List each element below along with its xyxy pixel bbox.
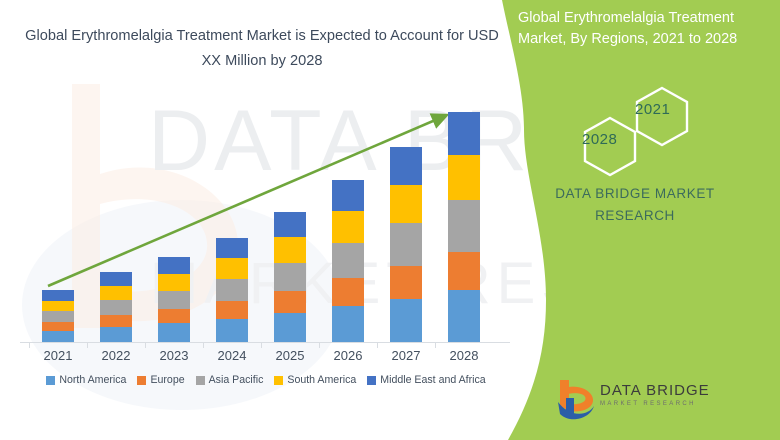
bar-segment-south-america bbox=[100, 286, 132, 300]
bar-segment-europe bbox=[216, 301, 248, 319]
bar-2026 bbox=[332, 180, 364, 342]
bar-segment-europe bbox=[158, 309, 190, 323]
x-axis-label-2026: 2026 bbox=[318, 348, 378, 363]
legend-item-south-america[interactable]: South America bbox=[274, 374, 356, 386]
bar-2024 bbox=[216, 238, 248, 342]
bar-segment-middle-east-and-africa bbox=[216, 238, 248, 258]
bar-segment-asia-pacific bbox=[158, 291, 190, 309]
x-axis-label-2021: 2021 bbox=[28, 348, 88, 363]
bar-segment-north-america bbox=[390, 299, 422, 342]
bar-segment-europe bbox=[390, 266, 422, 299]
bar-segment-south-america bbox=[448, 155, 480, 200]
bar-segment-middle-east-and-africa bbox=[448, 112, 480, 155]
panel-brand-line1: DATA BRIDGE MARKET bbox=[510, 183, 760, 205]
legend-item-europe[interactable]: Europe bbox=[137, 374, 184, 386]
bar-segment-asia-pacific bbox=[42, 311, 74, 322]
legend-item-north-america[interactable]: North America bbox=[46, 374, 126, 386]
legend-label: South America bbox=[287, 374, 356, 386]
bar-segment-europe bbox=[448, 252, 480, 290]
bar-segment-middle-east-and-africa bbox=[390, 147, 422, 185]
bar-segment-europe bbox=[332, 278, 364, 306]
dbmr-mark-icon bbox=[556, 378, 596, 422]
dbmr-logo: DATA BRIDGE MARKET RESEARCH bbox=[556, 378, 736, 424]
bar-2023 bbox=[158, 257, 190, 342]
dbmr-logo-name: DATA BRIDGE bbox=[600, 382, 710, 399]
bar-segment-north-america bbox=[332, 306, 364, 342]
hexagon-group: 2028 2021 bbox=[480, 0, 780, 180]
dbmr-logo-text: DATA BRIDGE MARKET RESEARCH bbox=[600, 382, 710, 407]
bar-2027 bbox=[390, 147, 422, 342]
hexagon-label-2028: 2028 bbox=[582, 131, 617, 148]
bar-segment-asia-pacific bbox=[100, 300, 132, 315]
bar-segment-asia-pacific bbox=[448, 200, 480, 252]
legend-swatch-icon bbox=[367, 376, 376, 385]
bar-segment-south-america bbox=[158, 274, 190, 291]
bar-segment-south-america bbox=[390, 185, 422, 223]
bar-segment-asia-pacific bbox=[390, 223, 422, 266]
legend-label: Asia Pacific bbox=[209, 374, 264, 386]
bar-segment-asia-pacific bbox=[274, 263, 306, 291]
panel-brand: DATA BRIDGE MARKET RESEARCH bbox=[510, 183, 760, 227]
bar-segment-south-america bbox=[216, 258, 248, 279]
bar-segment-north-america bbox=[158, 323, 190, 342]
x-axis-label-2023: 2023 bbox=[144, 348, 204, 363]
panel-brand-line2: RESEARCH bbox=[510, 205, 760, 227]
bar-2028 bbox=[448, 112, 480, 342]
hexagon-label-2021: 2021 bbox=[635, 101, 670, 118]
bar-segment-middle-east-and-africa bbox=[274, 212, 306, 237]
bar-segment-north-america bbox=[216, 319, 248, 342]
right-green-panel: Global Erythromelalgia Treatment Market,… bbox=[480, 0, 780, 440]
legend-swatch-icon bbox=[196, 376, 205, 385]
bar-2025 bbox=[274, 212, 306, 342]
dbmr-logo-tagline: MARKET RESEARCH bbox=[600, 401, 710, 407]
bar-segment-asia-pacific bbox=[332, 243, 364, 278]
bar-segment-north-america bbox=[448, 290, 480, 342]
x-axis-label-2022: 2022 bbox=[86, 348, 146, 363]
bar-segment-middle-east-and-africa bbox=[158, 257, 190, 274]
bar-segment-south-america bbox=[332, 211, 364, 243]
hexagon-outlines-icon bbox=[480, 0, 780, 180]
bar-segment-south-america bbox=[42, 301, 74, 311]
legend-swatch-icon bbox=[274, 376, 283, 385]
x-axis-label-2024: 2024 bbox=[202, 348, 262, 363]
bar-segment-north-america bbox=[42, 331, 74, 342]
x-axis-label-2025: 2025 bbox=[260, 348, 320, 363]
bar-segment-middle-east-and-africa bbox=[42, 290, 74, 301]
x-axis-label-2028: 2028 bbox=[434, 348, 494, 363]
legend-swatch-icon bbox=[46, 376, 55, 385]
legend-label: Middle East and Africa bbox=[380, 374, 485, 386]
bar-segment-middle-east-and-africa bbox=[332, 180, 364, 211]
legend-item-middle-east-and-africa[interactable]: Middle East and Africa bbox=[367, 374, 485, 386]
x-axis-label-2027: 2027 bbox=[376, 348, 436, 363]
infographic-canvas: DATA BRIDGE MARKET RESEARCH Global Eryth… bbox=[0, 0, 780, 440]
legend-label: North America bbox=[59, 374, 126, 386]
legend-item-asia-pacific[interactable]: Asia Pacific bbox=[196, 374, 264, 386]
bar-segment-europe bbox=[42, 322, 74, 331]
bar-segment-north-america bbox=[100, 327, 132, 342]
bar-segment-asia-pacific bbox=[216, 279, 248, 301]
chart-legend: North AmericaEuropeAsia PacificSouth Ame… bbox=[16, 374, 516, 386]
bar-segment-north-america bbox=[274, 313, 306, 342]
bar-segment-europe bbox=[100, 315, 132, 327]
bar-2021 bbox=[42, 290, 74, 342]
legend-label: Europe bbox=[150, 374, 184, 386]
bar-segment-middle-east-and-africa bbox=[100, 272, 132, 286]
bar-2022 bbox=[100, 272, 132, 342]
bar-segment-south-america bbox=[274, 237, 306, 263]
legend-swatch-icon bbox=[137, 376, 146, 385]
bar-segment-europe bbox=[274, 291, 306, 313]
